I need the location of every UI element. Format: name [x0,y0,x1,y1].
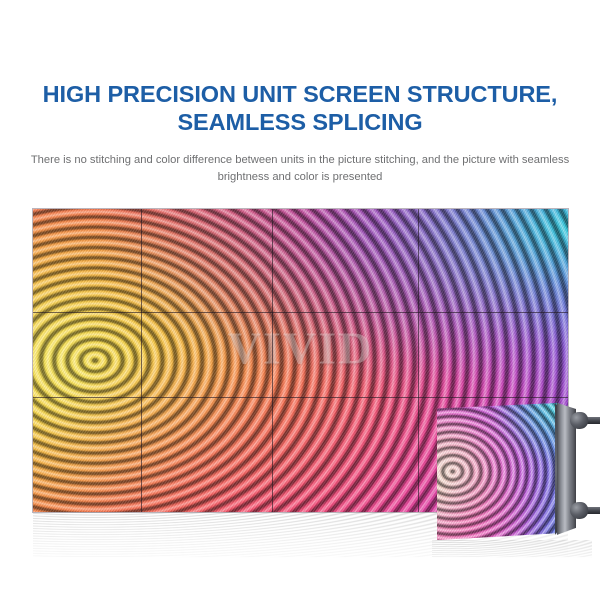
led-cabinet-module [432,396,592,546]
module-pixel-texture [437,403,559,540]
module-reflection [432,540,592,584]
mounting-bracket-top [570,412,600,432]
page-subtitle: There is no stitching and color differen… [0,152,600,186]
seam-vertical-3 [418,209,419,512]
module-reflection-fade [432,540,592,584]
feature-slide: HIGH PRECISION UNIT SCREEN STRUCTURE, SE… [0,0,600,600]
mounting-bracket-bottom [570,502,600,522]
seam-vertical-2 [272,209,273,512]
module-screen-face [437,403,559,540]
heading-block: HIGH PRECISION UNIT SCREEN STRUCTURE, SE… [0,80,600,136]
bracket-knob-icon [570,502,588,519]
page-title: HIGH PRECISION UNIT SCREEN STRUCTURE, SE… [0,80,600,136]
bracket-knob-icon [570,412,588,429]
seam-vertical-1 [141,209,142,512]
seam-horizontal-1 [33,312,568,313]
